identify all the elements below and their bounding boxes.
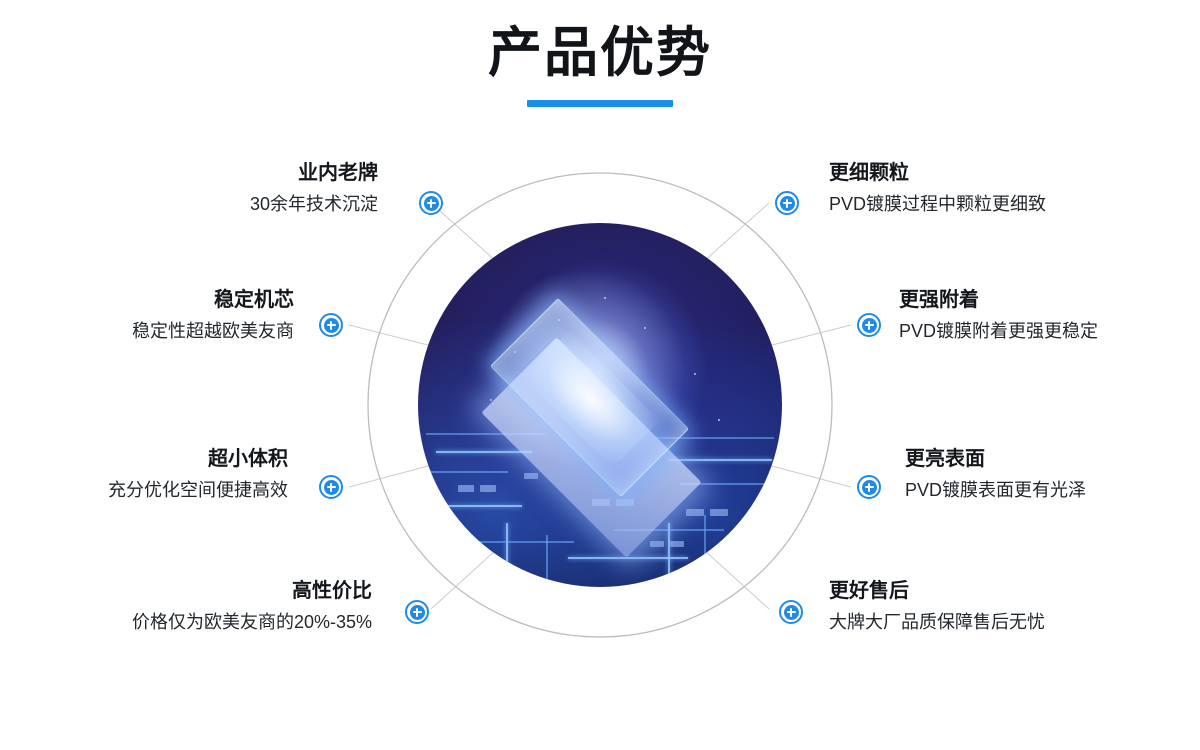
advantage-title: 更细颗粒 — [829, 160, 1159, 187]
plus-circle-icon-right-3[interactable] — [857, 475, 881, 499]
advantage-item-right-1[interactable]: 更细颗粒 PVD镀膜过程中颗粒更细致 — [829, 160, 1159, 218]
chip-graphic — [475, 299, 725, 489]
plus-circle-icon-left-4[interactable] — [405, 600, 429, 624]
advantage-desc: PVD镀膜表面更有光泽 — [905, 477, 1200, 504]
plus-circle-icon-right-2[interactable] — [857, 313, 881, 337]
advantage-title: 稳定机芯 — [0, 287, 294, 314]
advantage-desc: 30余年技术沉淀 — [48, 191, 378, 218]
center-chip-image — [418, 223, 782, 587]
advantage-desc: PVD镀膜附着更强更稳定 — [899, 318, 1200, 345]
advantage-desc: 充分优化空间便捷高效 — [0, 477, 288, 504]
advantage-title: 超小体积 — [0, 446, 288, 473]
advantage-desc: 大牌大厂品质保障售后无忧 — [829, 609, 1159, 636]
advantage-title: 更亮表面 — [905, 446, 1200, 473]
advantage-desc: 稳定性超越欧美友商 — [0, 318, 294, 345]
plus-circle-icon-left-1[interactable] — [419, 191, 443, 215]
advantages-diagram: 业内老牌 30余年技术沉淀 稳定机芯 稳定性超越欧美友商 超小体积 充分优化空间… — [0, 0, 1200, 750]
advantage-item-right-4[interactable]: 更好售后 大牌大厂品质保障售后无忧 — [829, 578, 1159, 636]
advantage-title: 更好售后 — [829, 578, 1159, 605]
plus-circle-icon-left-2[interactable] — [319, 313, 343, 337]
advantage-item-left-2[interactable]: 稳定机芯 稳定性超越欧美友商 — [0, 287, 294, 345]
product-advantages-page: 产品优势 — [0, 0, 1200, 750]
advantage-desc: 价格仅为欧美友商的20%-35% — [42, 609, 372, 636]
advantage-item-left-1[interactable]: 业内老牌 30余年技术沉淀 — [48, 160, 378, 218]
advantage-item-right-2[interactable]: 更强附着 PVD镀膜附着更强更稳定 — [899, 287, 1200, 345]
advantage-title: 更强附着 — [899, 287, 1200, 314]
plus-circle-icon-left-3[interactable] — [319, 475, 343, 499]
advantage-title: 高性价比 — [42, 578, 372, 605]
advantage-item-left-3[interactable]: 超小体积 充分优化空间便捷高效 — [0, 446, 288, 504]
advantage-desc: PVD镀膜过程中颗粒更细致 — [829, 191, 1159, 218]
advantage-item-right-3[interactable]: 更亮表面 PVD镀膜表面更有光泽 — [905, 446, 1200, 504]
plus-circle-icon-right-4[interactable] — [779, 600, 803, 624]
advantage-item-left-4[interactable]: 高性价比 价格仅为欧美友商的20%-35% — [42, 578, 372, 636]
plus-circle-icon-right-1[interactable] — [775, 191, 799, 215]
advantage-title: 业内老牌 — [48, 160, 378, 187]
